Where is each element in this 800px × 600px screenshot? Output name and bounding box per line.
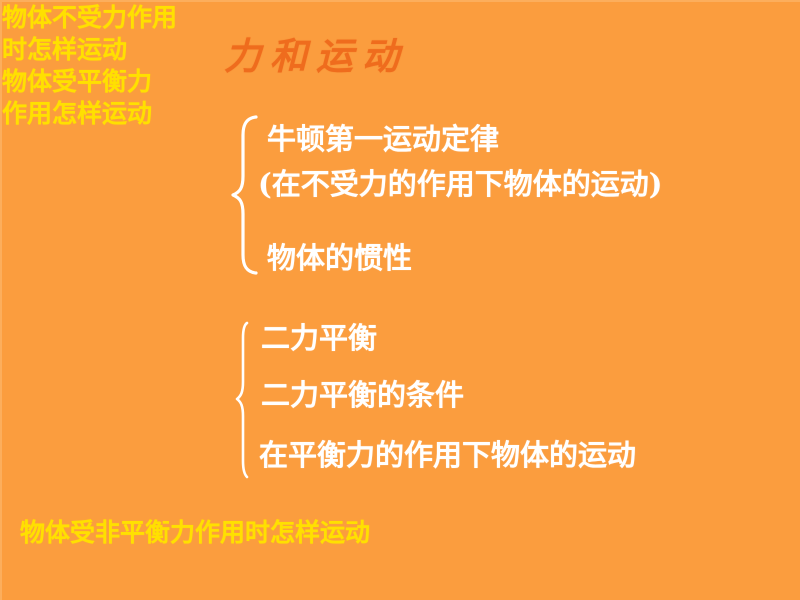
- branch-label-group-1-line-2: 时怎样运动: [2, 34, 217, 66]
- branch-item-group-1-1: (在不受力的作用下物体的运动): [258, 166, 662, 202]
- branch-label-group-2: 物体受平衡力 作用怎样运动: [2, 66, 207, 130]
- branch-item-group-2-1: 二力平衡的条件: [261, 377, 464, 413]
- branch-label-group-2-line-1: 物体受平衡力: [2, 66, 207, 98]
- branch-item-group-1-0: 牛顿第一运动定律: [267, 121, 499, 157]
- slide-canvas: 力和运动 物体不受力作用 时怎样运动 牛顿第一运动定律 (在不受力的作用下物体的…: [0, 0, 800, 600]
- branch-item-group-2-0: 二力平衡: [261, 320, 377, 356]
- branch-item-group-2-2: 在平衡力的作用下物体的运动: [259, 437, 636, 473]
- bottom-branch-label: 物体受非平衡力作用时怎样运动: [20, 517, 370, 549]
- branch-item-group-1-2: 物体的惯性: [267, 240, 412, 276]
- branch-label-group-1-line-1: 物体不受力作用: [2, 2, 217, 34]
- curly-brace-icon-group-2: [234, 320, 256, 480]
- page-title: 力和运动: [224, 33, 644, 79]
- branch-label-group-1: 物体不受力作用 时怎样运动: [2, 2, 217, 66]
- branch-label-group-2-line-2: 作用怎样运动: [2, 98, 207, 130]
